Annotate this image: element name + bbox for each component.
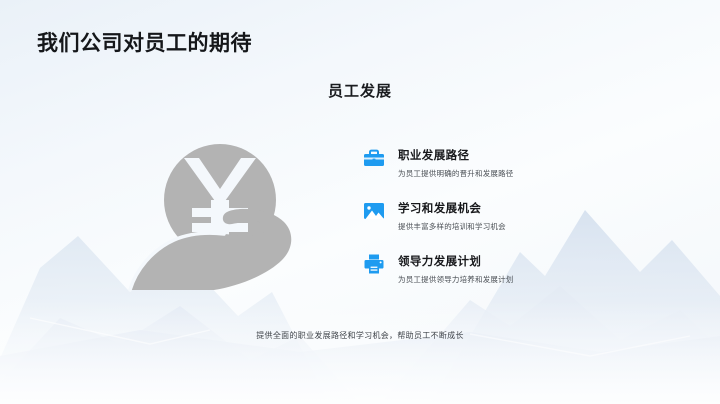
feature-item-leadership-program[interactable]: 领导力发展计划 为员工提供领导力培养和发展计划 <box>362 251 652 285</box>
feature-item-learning-opportunity[interactable]: 学习和发展机会 提供丰富多样的培训和学习机会 <box>362 198 652 232</box>
page-title: 我们公司对员工的期待 <box>37 27 252 57</box>
feature-description: 为员工提供领导力培养和发展计划 <box>398 275 514 285</box>
section-subtitle: 员工发展 <box>0 80 720 101</box>
feature-title: 职业发展路径 <box>398 150 469 162</box>
hand-holding-yen-coin-graphic <box>122 138 312 298</box>
feature-title: 领导力发展计划 <box>398 256 481 268</box>
slide-canvas: 我们公司对员工的期待 员工发展 职业发展路径 为员工提供明确的晋升和发展路径 <box>0 0 720 404</box>
bottom-caption: 提供全面的职业发展路径和学习机会，帮助员工不断成长 <box>0 330 720 341</box>
feature-title: 学习和发展机会 <box>398 203 481 215</box>
feature-list: 职业发展路径 为员工提供明确的晋升和发展路径 学习和发展机会 提供丰富多样的培训… <box>362 145 652 303</box>
briefcase-icon <box>362 146 386 170</box>
printer-icon <box>362 252 386 276</box>
feature-item-career-path[interactable]: 职业发展路径 为员工提供明确的晋升和发展路径 <box>362 145 652 179</box>
feature-description: 提供丰富多样的培训和学习机会 <box>398 222 506 232</box>
feature-description: 为员工提供明确的晋升和发展路径 <box>398 169 514 179</box>
image-icon <box>362 199 386 223</box>
